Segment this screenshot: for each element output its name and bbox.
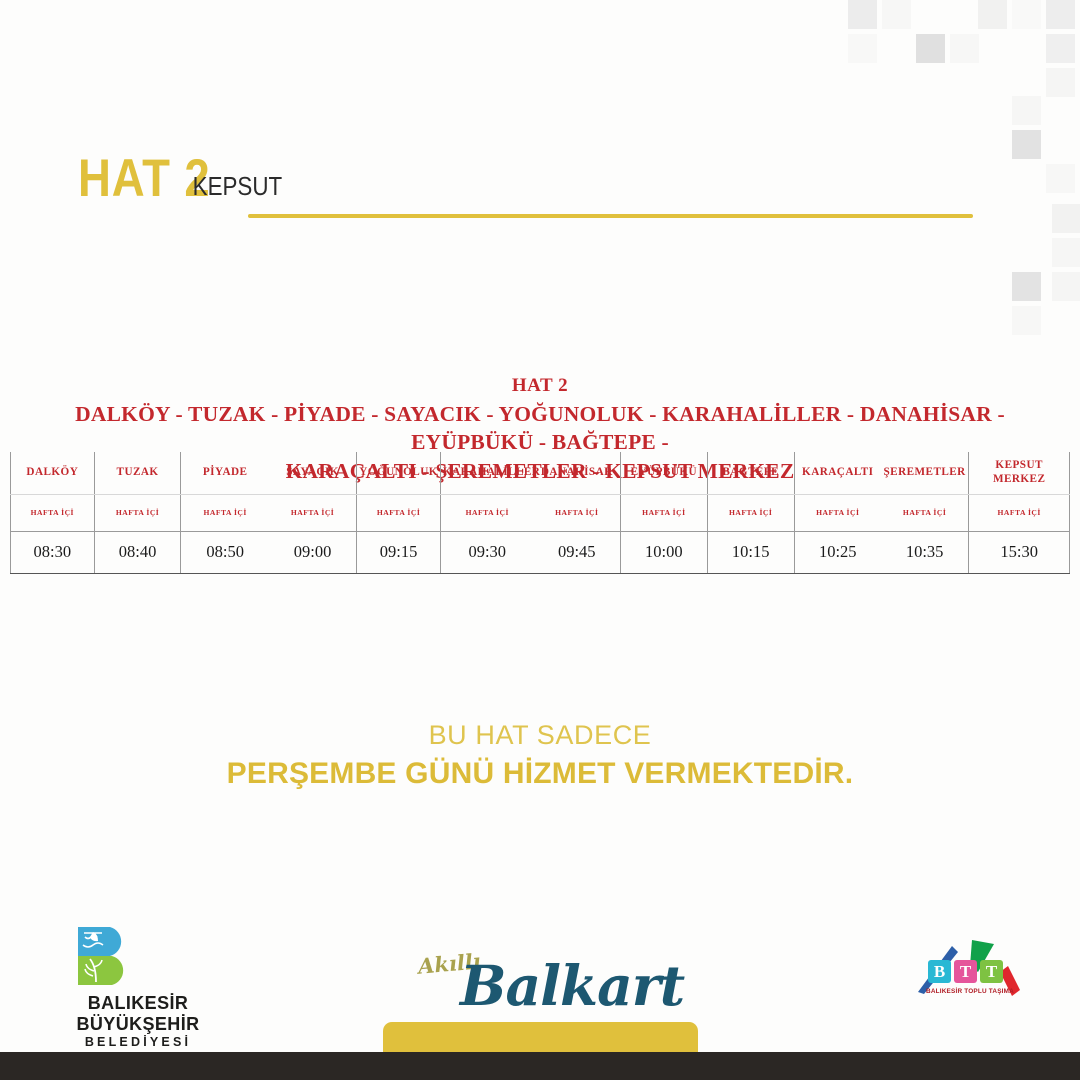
btt-logo: B T T BALIKESİR TOPLU TAŞIMA [908, 930, 1032, 1010]
daytype-cell: HAFTA İÇİ [534, 494, 621, 531]
page-header: HAT 2 KEPSUT [78, 155, 978, 218]
daytype-cell: HAFTA İÇİ [181, 494, 269, 531]
departure-time-cell: 09:15 [357, 531, 441, 573]
timetable-departure-row: 08:30 08:40 08:50 09:00 09:15 09:30 09:4… [11, 531, 1070, 573]
station-cell: PİYADE [181, 452, 269, 494]
departure-time-cell: 10:35 [881, 531, 969, 573]
timetable: DALKÖY TUZAK PİYADE SAYACIK YOĞUNOLUK KA… [10, 452, 1070, 574]
daytype-cell: HAFTA İÇİ [881, 494, 969, 531]
btt-letter-b: B [928, 960, 951, 983]
btt-letter-t2: T [980, 960, 1003, 983]
departure-time-cell: 08:50 [181, 531, 269, 573]
station-cell: DANAHİSAR [534, 452, 621, 494]
service-notice: BU HAT SADECE PERŞEMBE GÜNÜ HİZMET VERME… [0, 720, 1080, 791]
station-cell: KARAHALİLLER [440, 452, 533, 494]
timetable-station-row: DALKÖY TUZAK PİYADE SAYACIK YOĞUNOLUK KA… [11, 452, 1070, 494]
daytype-cell: HAFTA İÇİ [94, 494, 181, 531]
municipality-wordmark: BALIKESİR BÜYÜKŞEHİR BELEDİYESİ [48, 993, 228, 1050]
municipality-name-line-3: BELEDİYESİ [48, 1035, 228, 1050]
btt-letter-t1: T [954, 960, 977, 983]
balkart-logo: Akıllı Balkart [404, 945, 674, 1020]
station-cell: EYÜPBÜKÜ [620, 452, 707, 494]
station-cell: YOĞUNOLUK [357, 452, 441, 494]
line-destination-subtitle: KEPSUT [193, 171, 282, 204]
departure-time-cell: 10:15 [707, 531, 794, 573]
departure-time-cell: 09:30 [440, 531, 533, 573]
departure-time-cell: 09:45 [534, 531, 621, 573]
daytype-cell: HAFTA İÇİ [357, 494, 441, 531]
station-cell: KARAÇALTI [794, 452, 881, 494]
notice-line-1: BU HAT SADECE [0, 720, 1080, 751]
daytype-cell: HAFTA İÇİ [969, 494, 1070, 531]
station-cell: ŞEREMETLER [881, 452, 969, 494]
route-line-number: HAT 2 [0, 375, 1080, 397]
btt-letter-blocks: B T T [928, 960, 1003, 983]
daytype-cell: HAFTA İÇİ [794, 494, 881, 531]
daytype-cell: HAFTA İÇİ [707, 494, 794, 531]
btt-caption: BALIKESİR TOPLU TAŞIMA [908, 988, 1032, 995]
route-stop-list-line1: DALKÖY - TUZAK - PİYADE - SAYACIK - YOĞU… [0, 400, 1080, 457]
municipality-emblem-icon [70, 925, 140, 987]
bottom-dark-strip [0, 1052, 1080, 1080]
municipality-name-line-1: BALIKESİR [48, 993, 228, 1014]
departure-time-cell: 08:30 [11, 531, 95, 573]
departure-time-cell: 10:25 [794, 531, 881, 573]
daytype-cell: HAFTA İÇİ [269, 494, 357, 531]
departure-time-cell: 08:40 [94, 531, 181, 573]
station-cell: BAĞTEPE [707, 452, 794, 494]
daytype-cell: HAFTA İÇİ [440, 494, 533, 531]
departure-time-cell: 15:30 [969, 531, 1070, 573]
balikesir-municipality-logo: BALIKESİR BÜYÜKŞEHİR BELEDİYESİ [48, 925, 228, 1050]
municipality-name-line-2: BÜYÜKŞEHİR [48, 1014, 228, 1035]
balkart-wordmark: Balkart [460, 953, 684, 1018]
departure-time-cell: 10:00 [620, 531, 707, 573]
daytype-cell: HAFTA İÇİ [620, 494, 707, 531]
notice-line-2: PERŞEMBE GÜNÜ HİZMET VERMEKTEDİR. [0, 757, 1080, 791]
timetable-daytype-row: HAFTA İÇİ HAFTA İÇİ HAFTA İÇİ HAFTA İÇİ … [11, 494, 1070, 531]
station-cell: DALKÖY [11, 452, 95, 494]
station-cell: SAYACIK [269, 452, 357, 494]
line-number-title: HAT 2 [78, 155, 211, 204]
daytype-cell: HAFTA İÇİ [11, 494, 95, 531]
timetable-container: DALKÖY TUZAK PİYADE SAYACIK YOĞUNOLUK KA… [10, 452, 1070, 574]
departure-time-cell: 09:00 [269, 531, 357, 573]
header-divider-rule [248, 214, 973, 218]
station-cell: KEPSUT MERKEZ [969, 452, 1070, 494]
station-cell: TUZAK [94, 452, 181, 494]
